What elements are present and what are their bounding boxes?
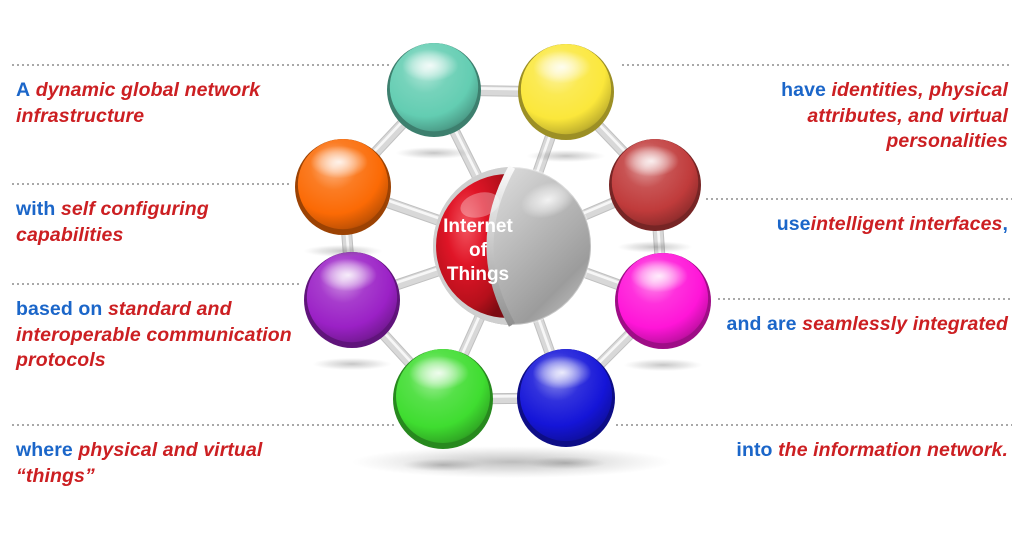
statement-definition-7: and are seamlessly integrated (716, 312, 1008, 338)
statement-lead: based on (16, 298, 102, 320)
node-purple (304, 252, 400, 370)
center-sphere: Internet of Things (430, 167, 594, 325)
statement-definition-3: based on standard and interoperable comm… (16, 297, 292, 374)
statement-lead: use (777, 213, 811, 235)
rule-right-1 (622, 64, 1012, 66)
center-label-line-1: Internet (443, 216, 513, 237)
rule-left-2 (12, 183, 290, 185)
cluster-ground-shadow (352, 446, 672, 478)
statement-emphasis: identities, physical attributes, and vir… (807, 79, 1008, 152)
statement-lead: where (16, 439, 73, 461)
statement-emphasis: seamlessly integrated (802, 313, 1008, 335)
rule-right-4 (616, 424, 1012, 426)
statement-lead: and are (727, 313, 797, 335)
node-yellow (518, 44, 614, 162)
center-label-line-2: of (469, 240, 488, 261)
statement-lead: with (16, 198, 55, 220)
statement-lead: into (736, 439, 772, 461)
node-magenta (615, 253, 711, 371)
statement-trail: , (1002, 213, 1008, 235)
statement-definition-4: where physical and virtual “things” (16, 438, 306, 489)
statement-lead: A (16, 79, 30, 101)
center-label-line-3: Things (447, 264, 509, 285)
diagram-canvas: Internet of Things A dynamic global netw… (0, 0, 1024, 558)
rule-right-2 (706, 198, 1012, 200)
statement-emphasis: the information network. (778, 439, 1008, 461)
statement-definition-2: with self configuring capabilities (16, 197, 286, 248)
rule-left-1 (12, 64, 390, 66)
rule-left-4 (12, 424, 396, 426)
statement-definition-8: into the information network. (716, 438, 1008, 464)
statement-lead: have (781, 79, 826, 101)
statement-emphasis: intelligent interfaces (811, 213, 1003, 235)
node-teal (387, 43, 481, 159)
rule-right-3 (718, 298, 1012, 300)
statement-definition-1: A dynamic global network infrastructure (16, 78, 306, 129)
statement-emphasis: dynamic global network infrastructure (16, 79, 260, 127)
statement-definition-6: useintelligent interfaces, (700, 212, 1008, 238)
rule-left-3 (12, 283, 300, 285)
statement-definition-5: have identities, physical attributes, an… (716, 78, 1008, 155)
